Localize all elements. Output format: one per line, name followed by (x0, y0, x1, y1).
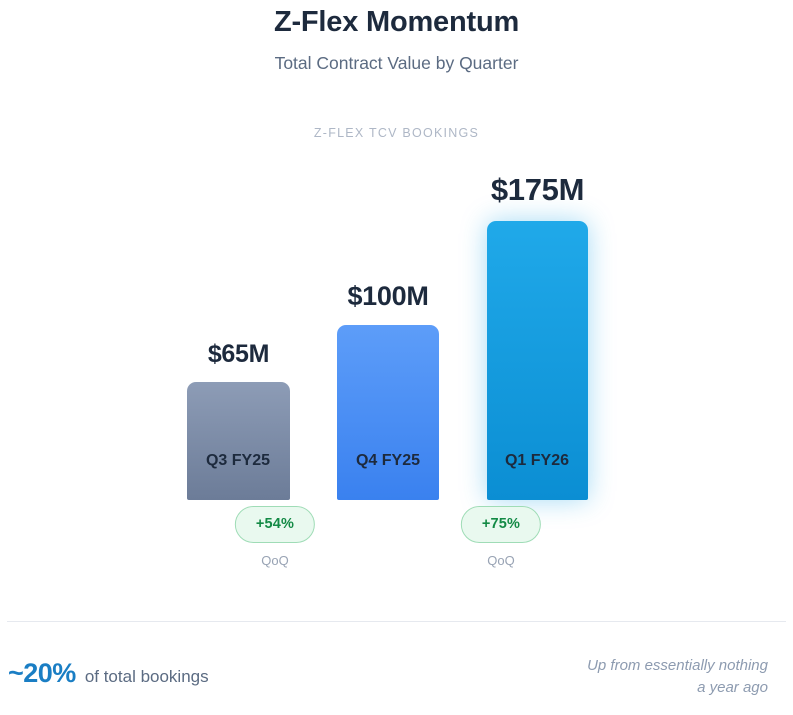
footer-summary: ~20% of total bookings (8, 658, 209, 689)
status-badge[interactable]: +54% (235, 506, 315, 543)
footer-note: Up from essentially nothing a year ago (468, 655, 768, 699)
footer-note-line-2: a year ago (468, 677, 768, 699)
bar-value-q4-fy25: $100M (347, 281, 428, 312)
qoq-caption: QoQ (235, 553, 315, 568)
qoq-delta-q4-to-q1: +75% QoQ (461, 506, 541, 568)
bar-q4-fy25[interactable] (337, 325, 439, 500)
bar-group-q3-fy25: $65M (187, 69, 290, 500)
chart-canvas: Z-Flex Momentum Total Contract Value by … (0, 0, 793, 715)
footer-note-line-1: Up from essentially nothing (468, 655, 768, 677)
footer-divider (7, 621, 786, 622)
bar-category-q1-fy26: Q1 FY26 (505, 452, 569, 470)
bar-value-q3-fy25: $65M (208, 340, 269, 369)
bar-group-q4-fy25: $100M (337, 69, 439, 500)
bar-value-q1-fy26: $175M (491, 172, 584, 208)
bar-group-q1-fy26: $175M (487, 69, 588, 500)
footer-stat-value: ~20% (8, 658, 76, 689)
bar-category-q4-fy25: Q4 FY25 (356, 452, 420, 470)
bar-chart-plot: $65M Q3 FY25 $100M Q4 FY25 $175M Q1 FY26 (0, 0, 793, 500)
bar-q3-fy25[interactable] (187, 382, 290, 500)
status-badge[interactable]: +75% (461, 506, 541, 543)
footer-stat-label: of total bookings (85, 667, 209, 687)
qoq-caption: QoQ (461, 553, 541, 568)
bar-category-q3-fy25: Q3 FY25 (206, 452, 270, 470)
qoq-delta-q3-to-q4: +54% QoQ (235, 506, 315, 568)
